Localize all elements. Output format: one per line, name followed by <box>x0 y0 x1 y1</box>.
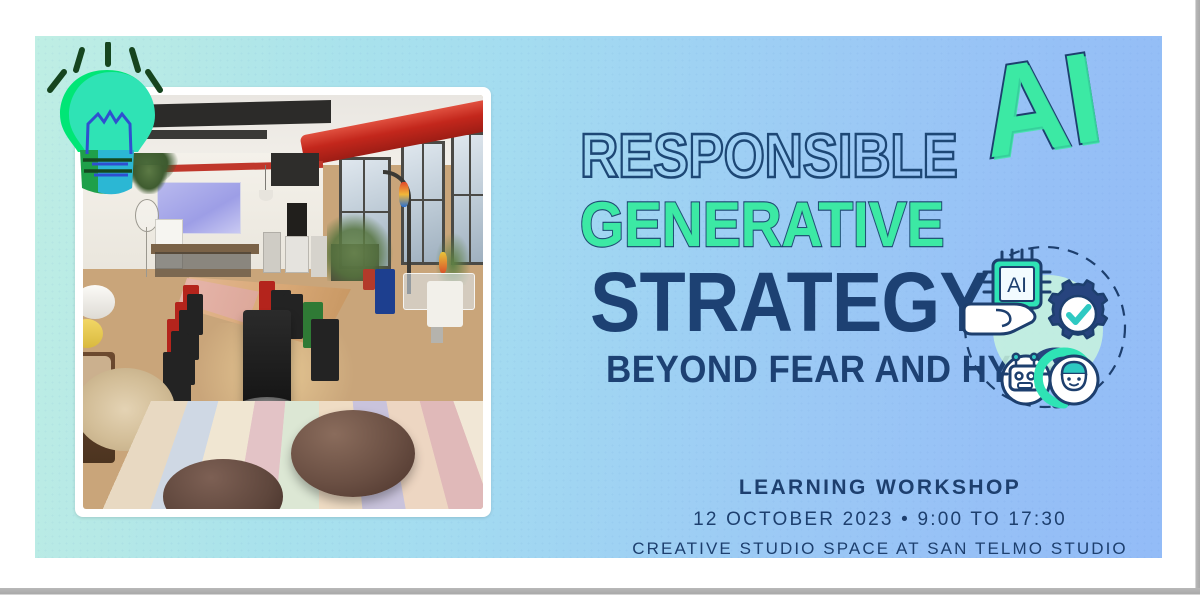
screenshot-canvas: RESPONSIBLE GENERATIVE STRATEGY BEYOND F… <box>0 0 1200 600</box>
event-date-time: 12 OCTOBER 2023 • 9:00 TO 17:30 <box>580 509 1162 531</box>
event-type-label: LEARNING WORKSHOP <box>580 476 1162 500</box>
window-right-edge <box>1192 0 1200 590</box>
headline-accent-ai: AI <box>972 34 1108 179</box>
lightbulb-icon <box>42 42 172 197</box>
event-venue: CREATIVE STUDIO SPACE AT SAN TELMO STUDI… <box>580 539 1162 558</box>
lightbulb-glass <box>69 72 155 152</box>
ai-governance-icon-cluster: AI <box>952 232 1137 417</box>
robot-human-exchange-icon <box>1002 352 1098 404</box>
event-details: LEARNING WORKSHOP 12 OCTOBER 2023 • 9:00… <box>580 476 1162 558</box>
hair <box>1062 362 1086 374</box>
window-bottom-bar <box>0 588 1200 600</box>
chip-label: AI <box>1007 274 1027 297</box>
